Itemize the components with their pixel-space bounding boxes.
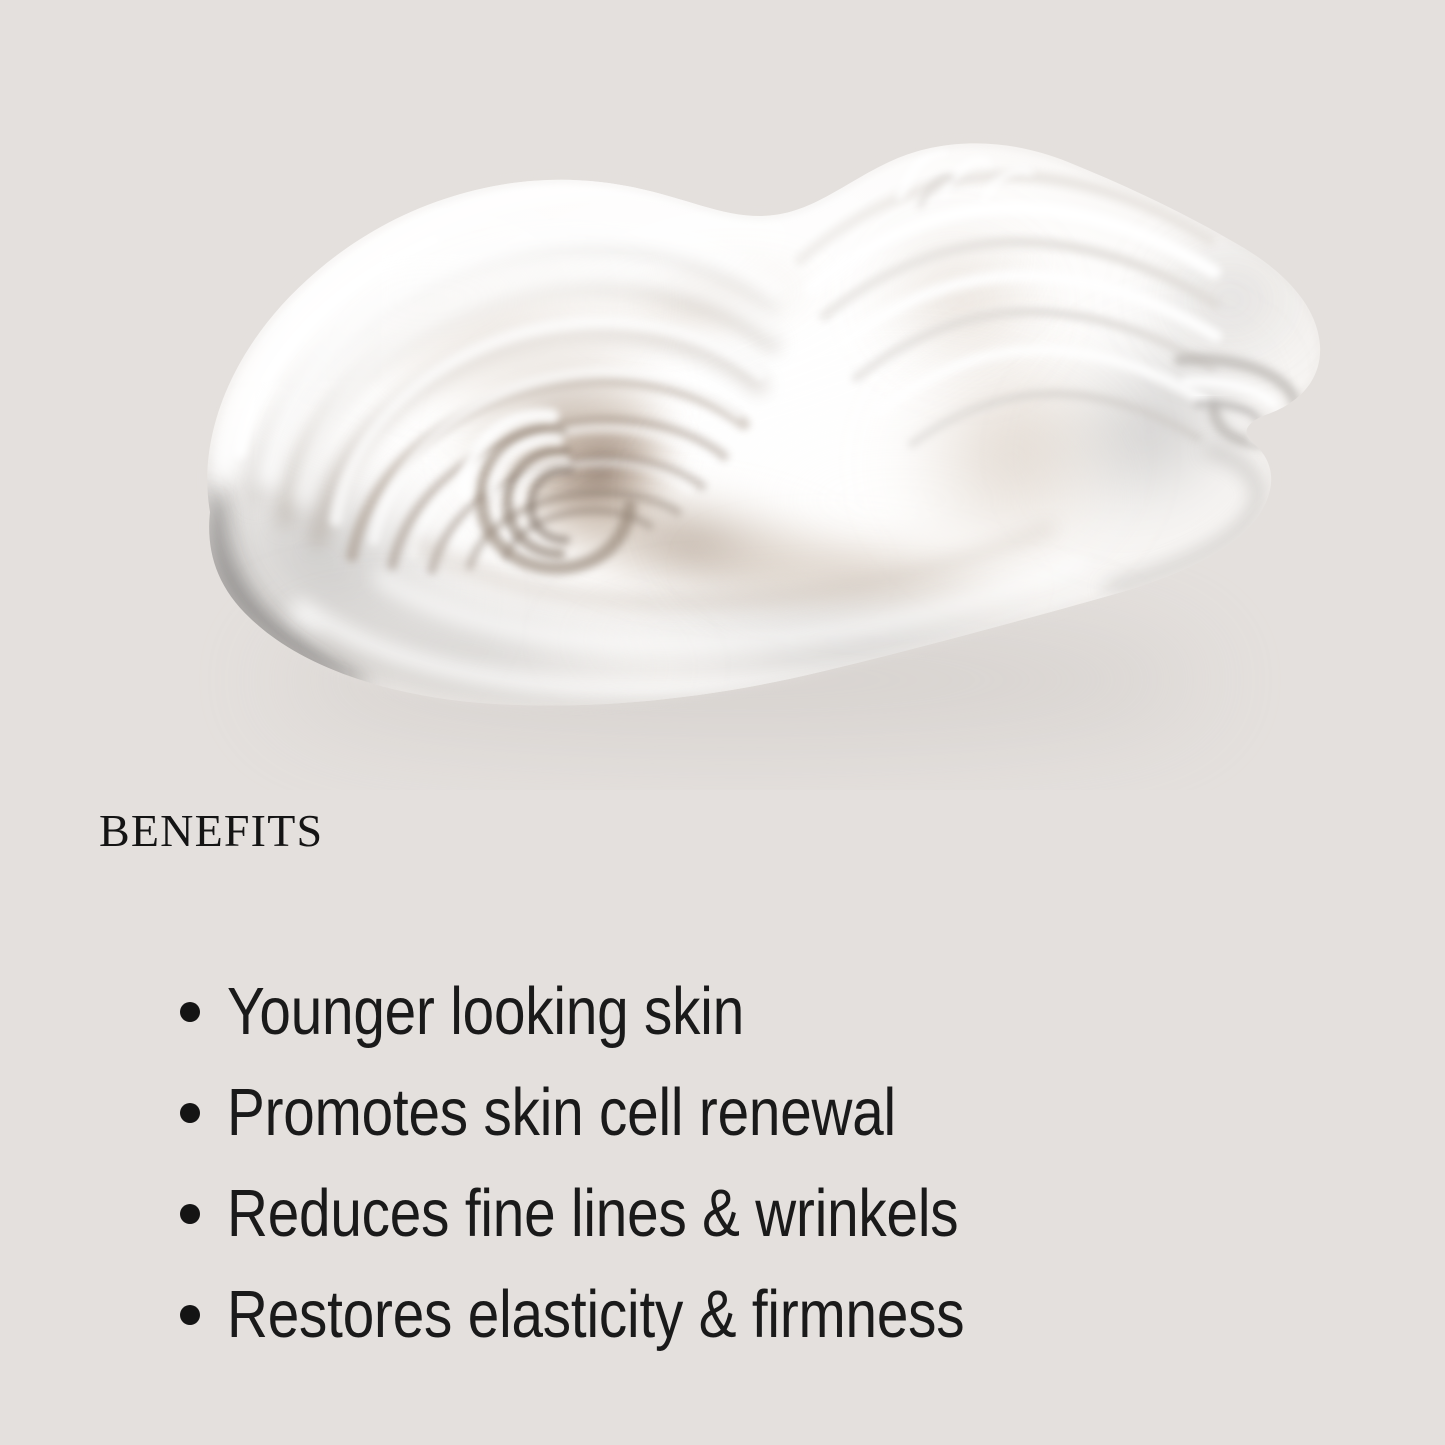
- list-item: Reduces fine lines & wrinkels: [180, 1180, 1360, 1281]
- list-item: Promotes skin cell renewal: [180, 1079, 1360, 1180]
- benefits-section: BENEFITS Younger looking skin Promotes s…: [0, 790, 1445, 1445]
- product-benefits-card: BENEFITS Younger looking skin Promotes s…: [0, 0, 1445, 1445]
- list-item: Younger looking skin: [180, 978, 1360, 1079]
- bullet-icon: [180, 1002, 200, 1022]
- benefit-label: Reduces fine lines & wrinkels: [227, 1180, 958, 1247]
- benefits-list: Younger looking skin Promotes skin cell …: [180, 978, 1360, 1382]
- benefit-label: Restores elasticity & firmness: [227, 1281, 964, 1348]
- benefit-label: Younger looking skin: [227, 978, 744, 1045]
- bullet-icon: [180, 1103, 200, 1123]
- bullet-icon: [180, 1204, 200, 1224]
- list-item: Restores elasticity & firmness: [180, 1281, 1360, 1382]
- benefit-label: Promotes skin cell renewal: [227, 1079, 896, 1146]
- benefits-heading: BENEFITS: [99, 808, 323, 854]
- cream-swatch-image: [0, 0, 1445, 790]
- cream-swatch-svg: [0, 0, 1445, 790]
- bullet-icon: [180, 1305, 200, 1325]
